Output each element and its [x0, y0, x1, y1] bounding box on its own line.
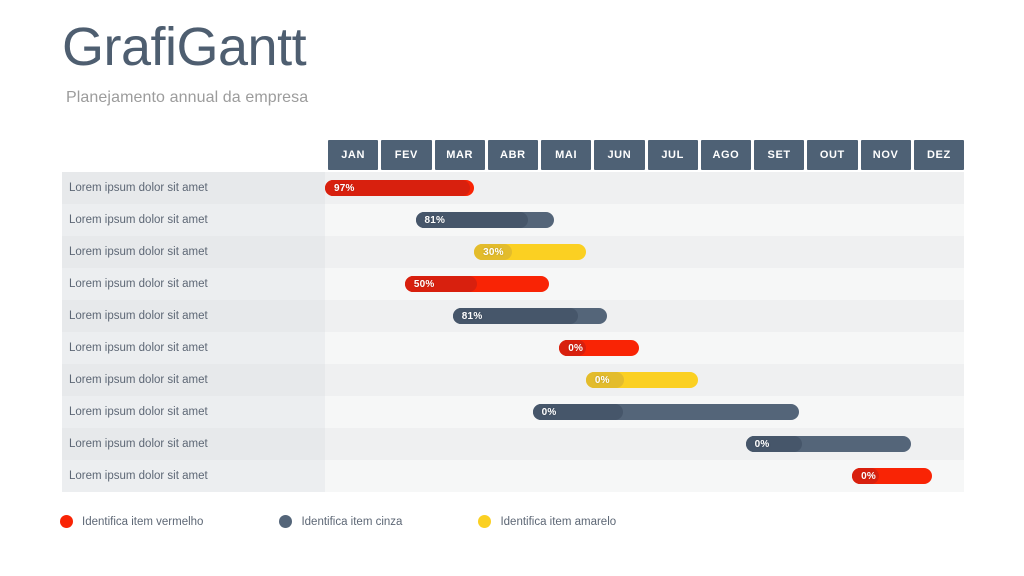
gantt-bar[interactable]: 30% — [474, 244, 586, 260]
gantt-bar[interactable]: 0% — [746, 436, 911, 452]
task-label: Lorem ipsum dolor sit amet — [62, 268, 325, 300]
gantt-bar-percent: 50% — [414, 279, 435, 290]
month-header-jul: JUL — [648, 140, 698, 170]
task-label: Lorem ipsum dolor sit amet — [62, 460, 325, 492]
legend-item-gray: Identifica item cinza — [279, 515, 402, 528]
legend-dot-icon — [60, 515, 73, 528]
task-label: Lorem ipsum dolor sit amet — [62, 204, 325, 236]
gantt-bar-percent: 30% — [483, 247, 504, 258]
gantt-bar[interactable]: 50% — [405, 276, 549, 292]
gantt-bar-percent: 0% — [861, 471, 876, 482]
gantt-bar[interactable]: 97% — [325, 180, 474, 196]
gantt-bar-percent: 0% — [568, 343, 583, 354]
table-row: Lorem ipsum dolor sit amet0% — [62, 428, 964, 460]
task-label: Lorem ipsum dolor sit amet — [62, 364, 325, 396]
month-header-row: JANFEVMARABRMAIJUNJULAGOSETOUTNOVDEZ — [328, 140, 964, 170]
month-header-jun: JUN — [594, 140, 644, 170]
task-track: 0% — [325, 396, 964, 428]
gantt-bar-percent: 81% — [425, 215, 446, 226]
legend-label: Identifica item amarelo — [500, 516, 616, 528]
month-header-mar: MAR — [435, 140, 485, 170]
month-header-dez: DEZ — [914, 140, 964, 170]
legend: Identifica item vermelhoIdentifica item … — [60, 515, 616, 528]
table-row: Lorem ipsum dolor sit amet0% — [62, 460, 964, 492]
task-track: 0% — [325, 332, 964, 364]
gantt-bar-percent: 0% — [595, 375, 610, 386]
gantt-bar-percent: 0% — [542, 407, 557, 418]
page-subtitle: Planejamento annual da empresa — [66, 89, 308, 107]
table-row: Lorem ipsum dolor sit amet97% — [62, 172, 964, 204]
legend-item-yellow: Identifica item amarelo — [478, 515, 616, 528]
task-label: Lorem ipsum dolor sit amet — [62, 236, 325, 268]
task-track: 0% — [325, 364, 964, 396]
task-track: 0% — [325, 428, 964, 460]
month-header-ago: AGO — [701, 140, 751, 170]
table-row: Lorem ipsum dolor sit amet0% — [62, 396, 964, 428]
task-label: Lorem ipsum dolor sit amet — [62, 172, 325, 204]
gantt-bar[interactable]: 0% — [852, 468, 932, 484]
legend-dot-icon — [279, 515, 292, 528]
gantt-bar-percent: 81% — [462, 311, 483, 322]
legend-label: Identifica item vermelho — [82, 516, 203, 528]
month-header-set: SET — [754, 140, 804, 170]
gantt-bar[interactable]: 81% — [453, 308, 607, 324]
table-row: Lorem ipsum dolor sit amet81% — [62, 300, 964, 332]
gantt-bar[interactable]: 0% — [533, 404, 799, 420]
table-row: Lorem ipsum dolor sit amet0% — [62, 332, 964, 364]
month-header-fev: FEV — [381, 140, 431, 170]
gantt-bar[interactable]: 0% — [586, 372, 698, 388]
page-title: GrafiGantt — [62, 18, 306, 77]
month-header-nov: NOV — [861, 140, 911, 170]
legend-item-red: Identifica item vermelho — [60, 515, 203, 528]
month-header-out: OUT — [807, 140, 857, 170]
gantt-grid: Lorem ipsum dolor sit amet97%Lorem ipsum… — [62, 172, 964, 492]
table-row: Lorem ipsum dolor sit amet81% — [62, 204, 964, 236]
table-row: Lorem ipsum dolor sit amet0% — [62, 364, 964, 396]
legend-label: Identifica item cinza — [301, 516, 402, 528]
task-label: Lorem ipsum dolor sit amet — [62, 396, 325, 428]
table-row: Lorem ipsum dolor sit amet50% — [62, 268, 964, 300]
gantt-bar[interactable]: 81% — [416, 212, 554, 228]
legend-dot-icon — [478, 515, 491, 528]
task-track: 0% — [325, 460, 964, 492]
task-track: 81% — [325, 204, 964, 236]
table-row: Lorem ipsum dolor sit amet30% — [62, 236, 964, 268]
task-track: 81% — [325, 300, 964, 332]
task-track: 50% — [325, 268, 964, 300]
task-track: 30% — [325, 236, 964, 268]
gantt-bar-percent: 97% — [334, 183, 355, 194]
gantt-chart-page: GrafiGantt Planejamento annual da empres… — [0, 0, 1024, 576]
month-header-abr: ABR — [488, 140, 538, 170]
task-label: Lorem ipsum dolor sit amet — [62, 300, 325, 332]
month-header-mai: MAI — [541, 140, 591, 170]
task-label: Lorem ipsum dolor sit amet — [62, 428, 325, 460]
task-label: Lorem ipsum dolor sit amet — [62, 332, 325, 364]
month-header-jan: JAN — [328, 140, 378, 170]
task-track: 97% — [325, 172, 964, 204]
gantt-bar-percent: 0% — [755, 439, 770, 450]
gantt-bar[interactable]: 0% — [559, 340, 639, 356]
